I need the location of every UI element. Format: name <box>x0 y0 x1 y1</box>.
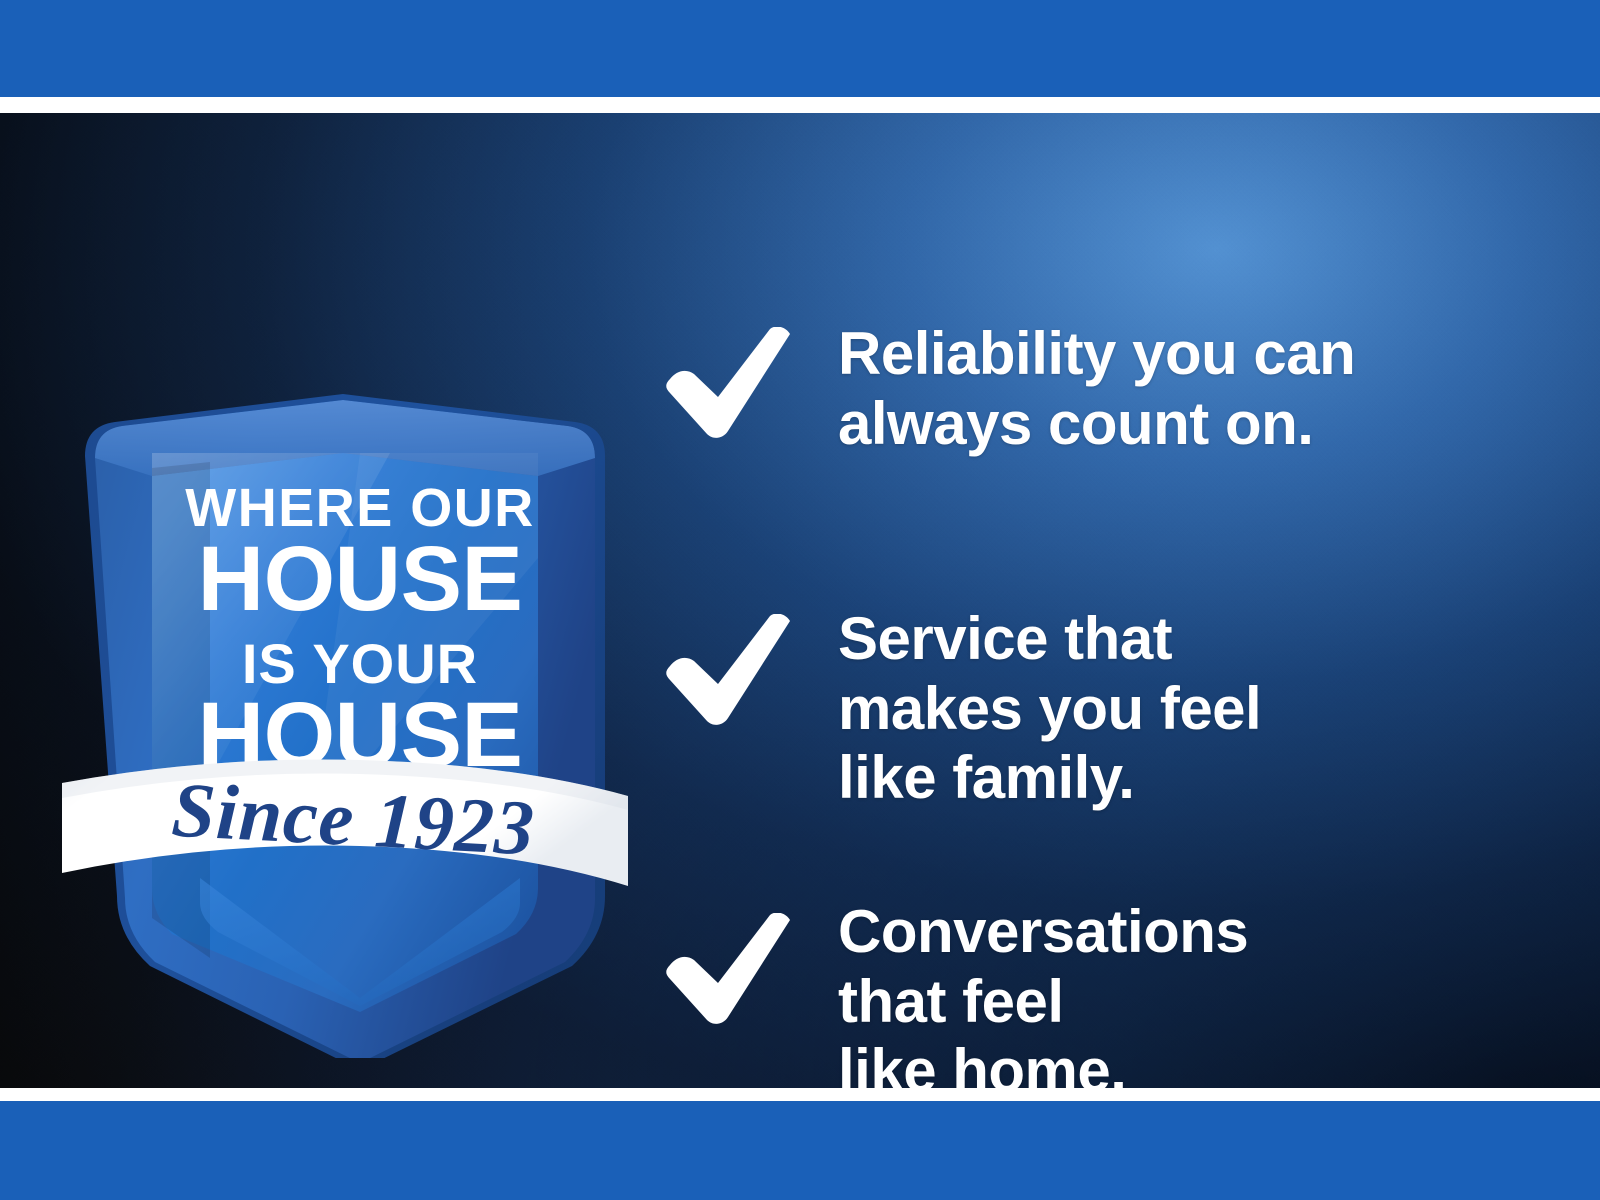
list-item: Conversations that feel like home. <box>662 897 1522 1088</box>
list-item: Reliability you can always count on. <box>662 319 1522 458</box>
brand-badge: WHERE OUR HOUSE IS YOUR HOUSE Since 1923 <box>60 358 630 1058</box>
benefits-list: Reliability you can always count on. Ser… <box>662 319 1522 1088</box>
check-icon <box>662 327 792 439</box>
top-brand-bar <box>0 0 1600 97</box>
bottom-brand-bar <box>0 1101 1600 1200</box>
badge-line2: HOUSE <box>198 528 523 630</box>
promo-graphic: WHERE OUR HOUSE IS YOUR HOUSE Since 1923… <box>0 0 1600 1200</box>
check-icon <box>662 614 792 726</box>
list-item: Service that makes you feel like family. <box>662 604 1522 813</box>
main-panel: WHERE OUR HOUSE IS YOUR HOUSE Since 1923… <box>0 113 1600 1088</box>
check-icon <box>662 913 792 1025</box>
